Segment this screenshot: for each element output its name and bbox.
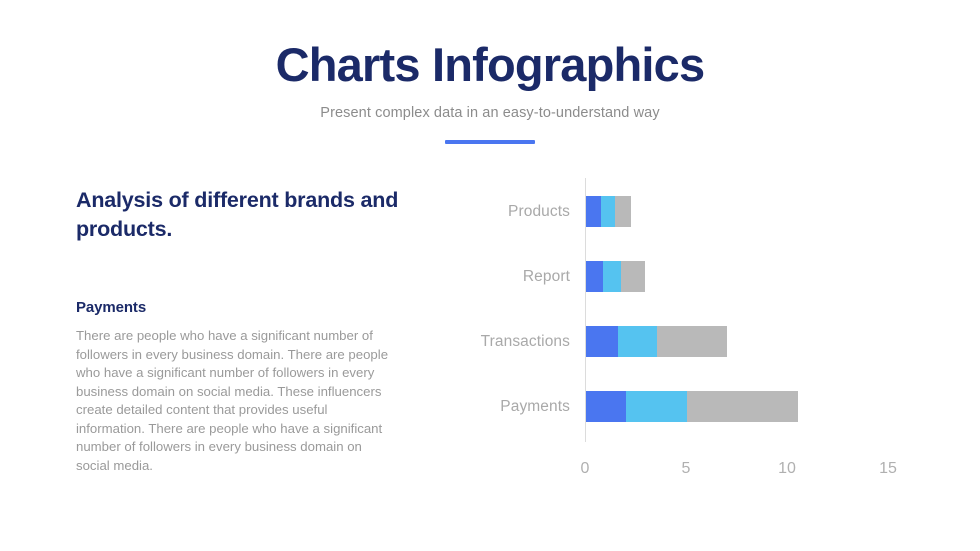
stacked-bar[interactable]: [586, 326, 727, 357]
accent-underline: [445, 140, 535, 144]
x-axis-tick-labels: 051015: [440, 454, 940, 484]
stacked-bar-chart: ProductsReportTransactionsPayments 05101…: [440, 170, 940, 490]
page-title: Charts Infographics: [0, 41, 980, 88]
chart-bar-row: Payments: [440, 391, 940, 422]
bar-segment[interactable]: [586, 196, 601, 227]
lead-heading: Analysis of different brands and product…: [76, 186, 406, 243]
chart-bar-row: Products: [440, 196, 940, 227]
bar-segment[interactable]: [586, 261, 603, 292]
left-text-column: Analysis of different brands and product…: [76, 186, 406, 475]
bar-segment[interactable]: [626, 391, 687, 422]
chart-bar-row: Report: [440, 261, 940, 292]
chart-bar-row: Transactions: [440, 326, 940, 357]
stacked-bar[interactable]: [586, 261, 645, 292]
bar-segment[interactable]: [615, 196, 631, 227]
bar-category-label: Products: [440, 196, 570, 227]
chart-plot-area: ProductsReportTransactionsPayments: [440, 170, 940, 490]
page-subtitle: Present complex data in an easy-to-under…: [0, 105, 980, 121]
slide-canvas: Charts Infographics Present complex data…: [0, 0, 980, 551]
body-paragraph: There are people who have a significant …: [76, 327, 398, 475]
slide-header: Charts Infographics Present complex data…: [0, 0, 980, 144]
bar-segment[interactable]: [601, 196, 615, 227]
bar-segment[interactable]: [586, 326, 618, 357]
section-label: Payments: [76, 299, 406, 316]
bar-category-label: Payments: [440, 391, 570, 422]
stacked-bar[interactable]: [586, 196, 631, 227]
bar-segment[interactable]: [621, 261, 644, 292]
x-tick-label: 5: [682, 454, 691, 484]
bar-category-label: Transactions: [440, 326, 570, 357]
stacked-bar[interactable]: [586, 391, 798, 422]
bar-category-label: Report: [440, 261, 570, 292]
x-tick-label: 0: [581, 454, 590, 484]
bar-segment[interactable]: [618, 326, 656, 357]
bar-segment[interactable]: [586, 391, 626, 422]
bar-segment[interactable]: [657, 326, 728, 357]
x-tick-label: 10: [778, 454, 796, 484]
x-tick-label: 15: [879, 454, 897, 484]
bar-segment[interactable]: [687, 391, 798, 422]
bar-segment[interactable]: [603, 261, 621, 292]
